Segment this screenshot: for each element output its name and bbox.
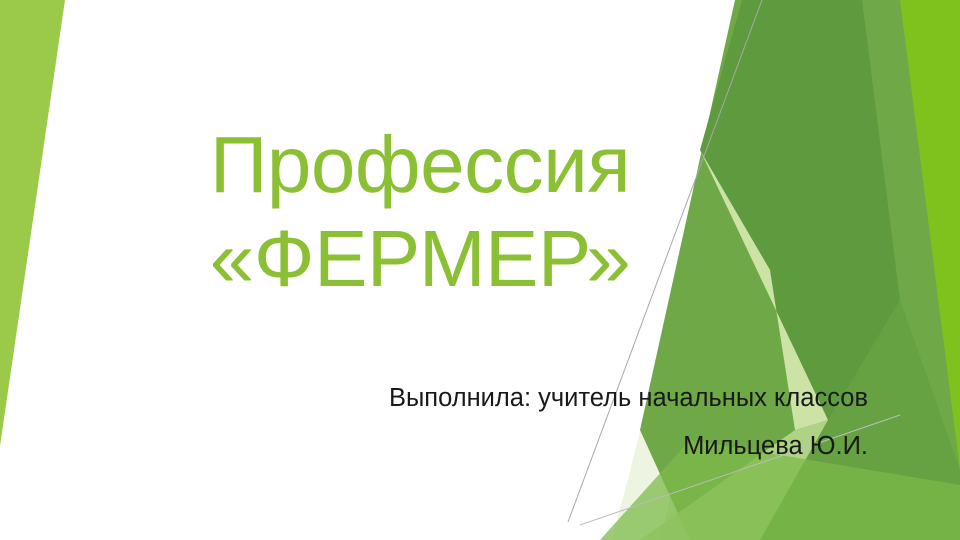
title-line-1: Профессия [96,118,744,212]
title-line-2: «ФЕРМЕР» [96,212,744,306]
slide-subtitle: Выполнила: учитель начальных классов Мил… [268,374,868,471]
slide-title: Профессия «ФЕРМЕР» [96,118,744,305]
subtitle-line-2: Мильцева Ю.И. [268,422,868,470]
slide-content: Профессия «ФЕРМЕР» Выполнила: учитель на… [0,0,960,540]
subtitle-line-1: Выполнила: учитель начальных классов [268,374,868,422]
slide-canvas: Профессия «ФЕРМЕР» Выполнила: учитель на… [0,0,960,540]
